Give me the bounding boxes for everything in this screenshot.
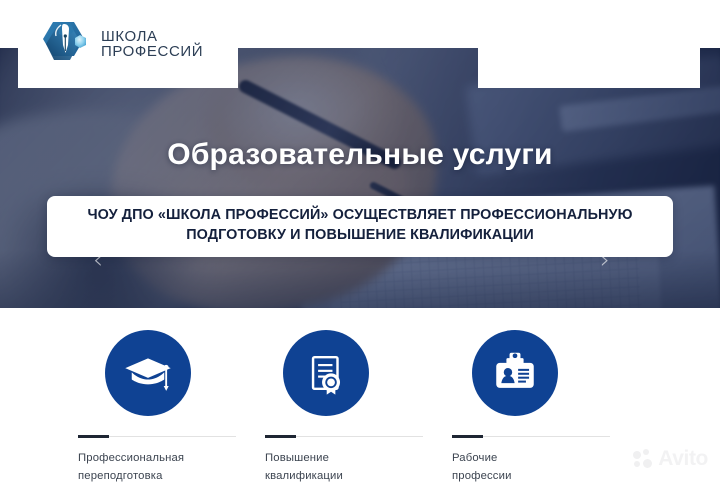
hero-banner-line-2: ПОДГОТОВКУ И ПОВЫШЕНИЕ КВАЛИФИКАЦИИ [61, 225, 659, 245]
feature-label-retraining: Профессиональная переподготовка [78, 449, 278, 483]
logo-wordmark: ШКОЛА ПРОФЕССИЙ [101, 29, 203, 59]
feature-card-qualification[interactable]: Повышение квалификации [265, 330, 465, 483]
feature-label-line-2: переподготовка [78, 467, 278, 483]
feature-label-line-2: профессии [452, 467, 652, 483]
avito-watermark: Avito [633, 447, 708, 471]
feature-divider [265, 436, 423, 437]
avito-watermark-text: Avito [658, 447, 708, 471]
pen-nib-hexagon-logo-icon [40, 15, 92, 73]
hero-banner-line-1: ЧОУ ДПО «ШКОЛА ПРОФЕССИЙ» ОСУЩЕСТВЛЯЕТ П… [61, 205, 659, 225]
slider-prev-arrow-icon[interactable]: ‹ [85, 247, 111, 273]
feature-card-professions[interactable]: Рабочие профессии [452, 330, 652, 483]
hero-banner: ЧОУ ДПО «ШКОЛА ПРОФЕССИЙ» ОСУЩЕСТВЛЯЕТ П… [47, 196, 673, 257]
header-menu-panel[interactable] [478, 0, 700, 88]
feature-divider [452, 436, 610, 437]
slider-next-arrow-icon[interactable]: › [592, 247, 618, 273]
feature-label-qualification: Повышение квалификации [265, 449, 465, 483]
logo-line-1: ШКОЛА [101, 29, 203, 44]
feature-divider [78, 436, 236, 437]
feature-label-line-1: Профессиональная [78, 449, 278, 467]
avito-logo-icon [633, 449, 654, 470]
feature-label-line-2: квалификации [265, 467, 465, 483]
id-badge-icon [472, 330, 558, 416]
features-section: Профессиональная переподготовка [0, 308, 720, 483]
site-logo[interactable]: ШКОЛА ПРОФЕССИЙ [18, 0, 238, 88]
certificate-icon [283, 330, 369, 416]
hero-title: Образовательные услуги [0, 138, 720, 172]
logo-line-2: ПРОФЕССИЙ [101, 44, 203, 59]
feature-label-line-1: Повышение [265, 449, 465, 467]
feature-label-line-1: Рабочие [452, 449, 652, 467]
feature-label-professions: Рабочие профессии [452, 449, 652, 483]
page-root: ШКОЛА ПРОФЕССИЙ Образовательные услуги Ч… [0, 0, 720, 483]
graduation-cap-icon [105, 330, 191, 416]
feature-card-retraining[interactable]: Профессиональная переподготовка [78, 330, 278, 483]
